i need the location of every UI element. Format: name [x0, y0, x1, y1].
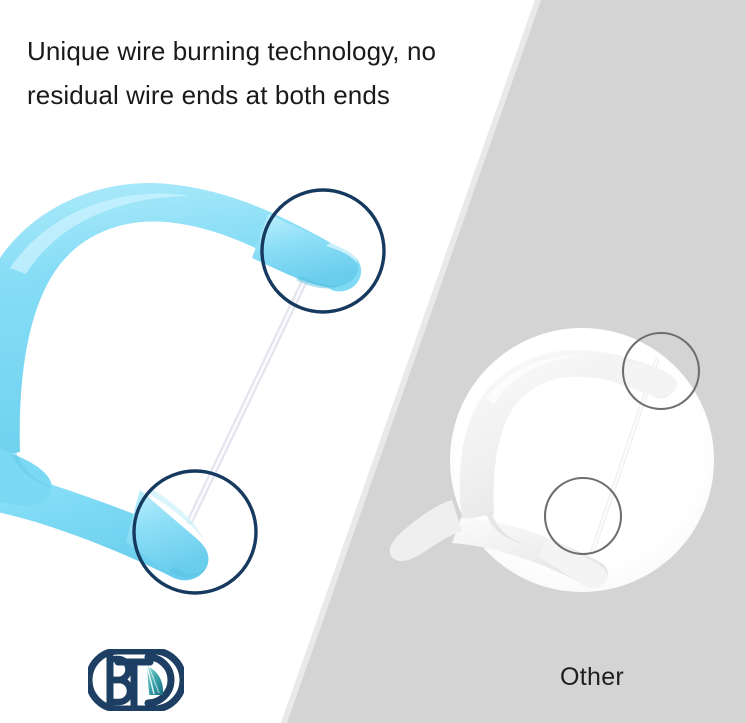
- headline-text: Unique wire burning technology, no resid…: [27, 29, 507, 117]
- other-product-label: Other: [560, 663, 624, 692]
- infographic-canvas: Unique wire burning technology, no resid…: [0, 0, 746, 723]
- btd-logo-mark: [88, 649, 184, 711]
- btd-logo-fan: [145, 666, 163, 695]
- btd-logo: [88, 649, 184, 711]
